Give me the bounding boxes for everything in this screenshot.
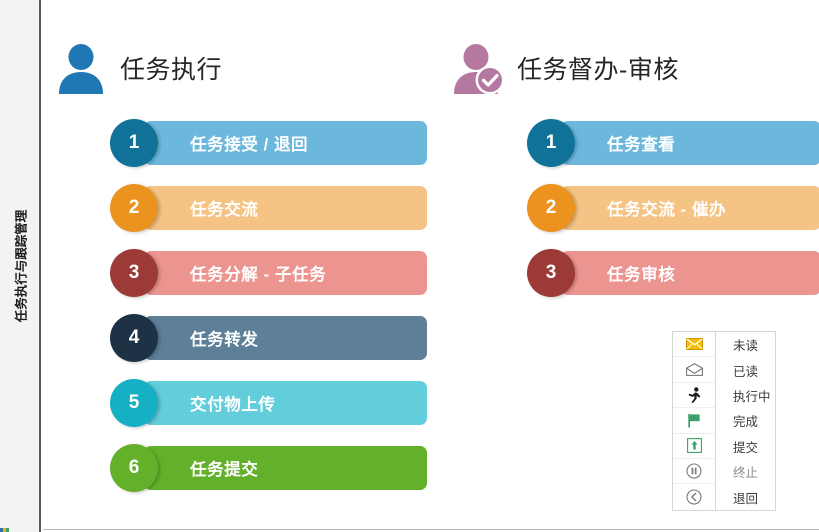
step-number-badge[interactable]: 2 bbox=[110, 184, 158, 232]
step-number-badge[interactable]: 4 bbox=[110, 314, 158, 362]
legend-item[interactable]: 完成 bbox=[673, 408, 775, 433]
legend-label: 未读 bbox=[716, 335, 758, 354]
step-bar[interactable]: 任务交流 bbox=[144, 186, 427, 230]
step-label: 任务接受 / 退回 bbox=[190, 131, 308, 155]
step-bar[interactable]: 任务审核 bbox=[561, 251, 819, 295]
legend-icon-slot bbox=[673, 357, 716, 382]
step-bar[interactable]: 交付物上传 bbox=[144, 381, 427, 425]
slide-canvas: 任务执行与跟踪管理 任务执行 任务接受 / 退回 1 任 bbox=[0, 0, 819, 532]
column-title: 任务督办-审核 bbox=[517, 50, 679, 86]
legend-label: 终止 bbox=[716, 462, 758, 481]
column-header-task-supervision-review: 任务督办-审核 bbox=[452, 42, 679, 94]
step-label: 任务交流 - 催办 bbox=[607, 196, 726, 220]
column-header-task-execution: 任务执行 bbox=[55, 42, 222, 94]
legend-icon-slot bbox=[673, 332, 716, 357]
legend-icon-slot bbox=[673, 459, 716, 484]
submit-box-icon bbox=[687, 438, 702, 453]
legend-item[interactable]: 终止 bbox=[673, 459, 775, 484]
flag-icon bbox=[687, 413, 702, 428]
corner-dot bbox=[6, 528, 9, 532]
person-check-icon bbox=[452, 42, 506, 94]
legend-icon-slot bbox=[673, 484, 716, 509]
step-number-badge[interactable]: 2 bbox=[527, 184, 575, 232]
step-label: 任务分解 - 子任务 bbox=[190, 261, 326, 285]
pause-circle-icon bbox=[686, 463, 702, 479]
legend-icon-slot bbox=[673, 408, 716, 433]
legend-item[interactable]: 执行中 bbox=[673, 383, 775, 408]
legend-label: 执行中 bbox=[716, 386, 771, 405]
step-bar[interactable]: 任务转发 bbox=[144, 316, 427, 360]
step-bar[interactable]: 任务接受 / 退回 bbox=[144, 121, 427, 165]
legend-item[interactable]: 提交 bbox=[673, 434, 775, 459]
side-tab-strip[interactable]: 任务执行与跟踪管理 bbox=[0, 0, 41, 532]
legend-label: 已读 bbox=[716, 361, 758, 380]
step-number-badge[interactable]: 5 bbox=[110, 379, 158, 427]
envelope-closed-icon bbox=[686, 338, 703, 350]
step-number-badge[interactable]: 1 bbox=[527, 119, 575, 167]
status-legend: 未读 已读 bbox=[672, 331, 776, 511]
step-bar[interactable]: 任务查看 bbox=[561, 121, 819, 165]
step-bar[interactable]: 任务交流 - 催办 bbox=[561, 186, 819, 230]
step-number-badge[interactable]: 1 bbox=[110, 119, 158, 167]
legend-icon-slot bbox=[673, 383, 716, 408]
person-icon bbox=[55, 42, 109, 94]
step-number-badge[interactable]: 3 bbox=[110, 249, 158, 297]
step-number-badge[interactable]: 3 bbox=[527, 249, 575, 297]
corner-color-dots bbox=[0, 528, 9, 532]
legend-icon-slot bbox=[673, 434, 716, 459]
legend-label: 退回 bbox=[716, 488, 758, 507]
step-label: 任务审核 bbox=[607, 261, 675, 285]
step-bar[interactable]: 任务提交 bbox=[144, 446, 427, 490]
legend-label: 提交 bbox=[716, 437, 758, 456]
legend-item[interactable]: 未读 bbox=[673, 332, 775, 357]
step-number-badge[interactable]: 6 bbox=[110, 444, 158, 492]
step-bar[interactable]: 任务分解 - 子任务 bbox=[144, 251, 427, 295]
running-person-icon bbox=[687, 387, 702, 403]
legend-item[interactable]: 已读 bbox=[673, 357, 775, 382]
slide-body: 任务执行 任务接受 / 退回 1 任务交流 2 任务分解 - 子任务 3 bbox=[43, 0, 819, 530]
envelope-open-icon bbox=[686, 363, 703, 376]
step-label: 任务转发 bbox=[190, 326, 258, 350]
step-label: 交付物上传 bbox=[190, 391, 276, 415]
step-label: 任务提交 bbox=[190, 456, 258, 480]
legend-item[interactable]: 退回 bbox=[673, 484, 775, 509]
column-title: 任务执行 bbox=[120, 50, 222, 86]
legend-label: 完成 bbox=[716, 411, 758, 430]
step-label: 任务查看 bbox=[607, 131, 675, 155]
side-tab-label: 任务执行与跟踪管理 bbox=[10, 210, 29, 323]
step-label: 任务交流 bbox=[190, 196, 258, 220]
back-circle-icon bbox=[686, 489, 702, 505]
